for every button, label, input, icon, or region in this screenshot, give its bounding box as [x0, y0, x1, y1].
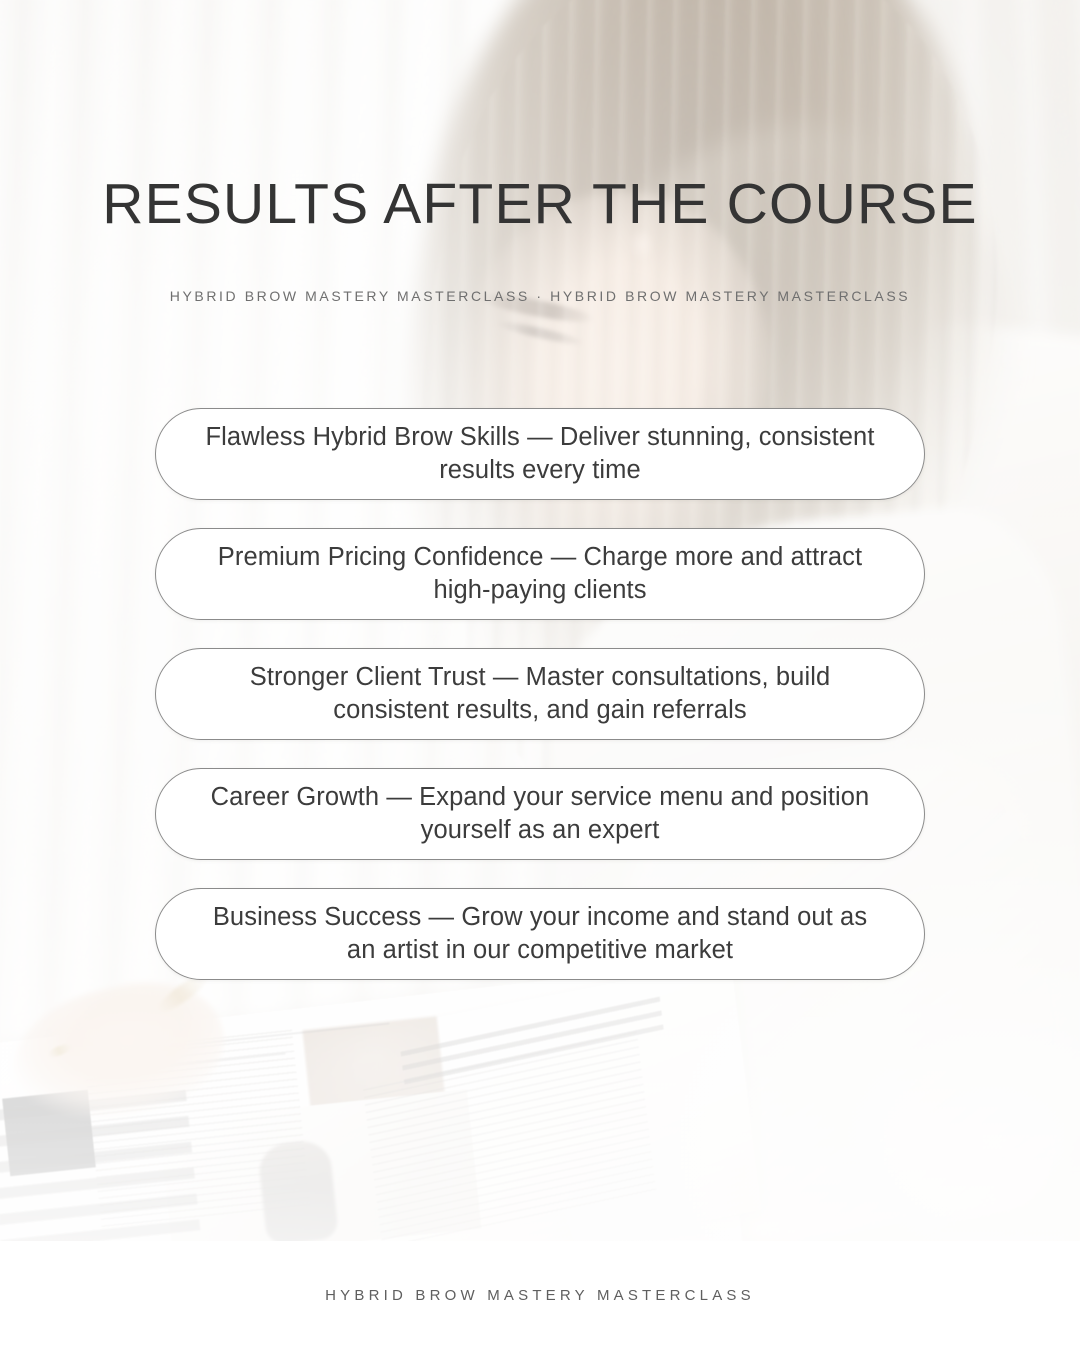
list-item-label: Business Success — Grow your income and …: [204, 901, 876, 967]
list-item[interactable]: Business Success — Grow your income and …: [155, 888, 925, 980]
list-item-label: Premium Pricing Confidence — Charge more…: [204, 541, 876, 607]
page-subtitle: HYBRID BROW MASTERY MASTERCLASS · HYBRID…: [0, 288, 1080, 304]
slide-content: RESULTS AFTER THE COURSE HYBRID BROW MAS…: [0, 0, 1080, 1350]
list-item[interactable]: Career Growth — Expand your service menu…: [155, 768, 925, 860]
footer-bar: HYBRID BROW MASTERY MASTERCLASS: [0, 1241, 1080, 1350]
page-title: RESULTS AFTER THE COURSE: [0, 176, 1080, 233]
list-item-label: Flawless Hybrid Brow Skills — Deliver st…: [204, 421, 876, 487]
list-item-label: Stronger Client Trust — Master consultat…: [204, 661, 876, 727]
slide-canvas: RESULTS AFTER THE COURSE HYBRID BROW MAS…: [0, 0, 1080, 1350]
list-item[interactable]: Stronger Client Trust — Master consultat…: [155, 648, 925, 740]
list-item-label: Career Growth — Expand your service menu…: [204, 781, 876, 847]
list-item[interactable]: Flawless Hybrid Brow Skills — Deliver st…: [155, 408, 925, 500]
results-list: Flawless Hybrid Brow Skills — Deliver st…: [155, 408, 925, 980]
list-item[interactable]: Premium Pricing Confidence — Charge more…: [155, 528, 925, 620]
footer-brand-label: HYBRID BROW MASTERY MASTERCLASS: [325, 1287, 755, 1304]
